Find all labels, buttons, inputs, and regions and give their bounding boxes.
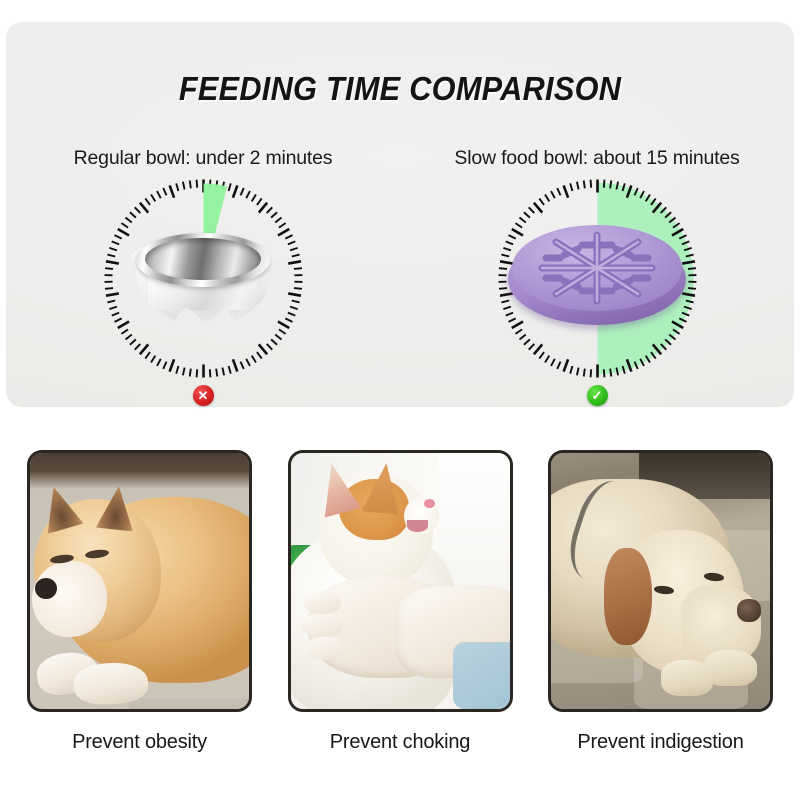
benefit-card-prevent-indigestion: Prevent indigestion bbox=[543, 450, 778, 780]
comparison-label-slow-food-bowl: Slow food bowl: about 15 minutes bbox=[454, 147, 739, 170]
status-badge-check-icon: ✓ bbox=[587, 385, 608, 406]
status-badge-cross-icon: ✕ bbox=[193, 385, 214, 406]
benefit-card-prevent-obesity: Prevent obesity bbox=[22, 450, 257, 780]
comparison-item-regular-bowl: Regular bowl: under 2 minutes bbox=[28, 147, 378, 406]
photo-yellow-labrador bbox=[548, 450, 773, 712]
benefits-row: Prevent obesity bbox=[0, 450, 800, 780]
dial-regular-bowl bbox=[101, 176, 306, 381]
bowl-image-slow-feeder bbox=[495, 176, 700, 381]
stainless-steel-bowl-icon bbox=[128, 225, 278, 333]
comparison-label-regular-bowl: Regular bowl: under 2 minutes bbox=[74, 147, 333, 170]
benefit-caption-prevent-obesity: Prevent obesity bbox=[72, 731, 207, 754]
bowl-image-regular bbox=[101, 176, 306, 381]
benefit-caption-prevent-choking: Prevent choking bbox=[330, 731, 470, 754]
comparison-row: Regular bowl: under 2 minutes bbox=[6, 147, 794, 406]
photo-fat-shiba-inu bbox=[27, 450, 252, 712]
page-title: FEEDING TIME COMPARISON bbox=[34, 70, 767, 108]
benefit-caption-prevent-indigestion: Prevent indigestion bbox=[577, 731, 743, 754]
infographic-page: FEEDING TIME COMPARISON Regular bowl: un… bbox=[0, 0, 800, 800]
comparison-item-slow-food-bowl: Slow food bowl: about 15 minutes bbox=[422, 147, 772, 406]
dial-slow-food-bowl bbox=[495, 176, 700, 381]
benefit-card-prevent-choking: Prevent choking bbox=[283, 450, 518, 780]
purple-slow-feeder-bowl-icon bbox=[508, 223, 686, 335]
photo-vet-examining-cat bbox=[288, 450, 513, 712]
comparison-panel: FEEDING TIME COMPARISON Regular bowl: un… bbox=[6, 22, 794, 407]
